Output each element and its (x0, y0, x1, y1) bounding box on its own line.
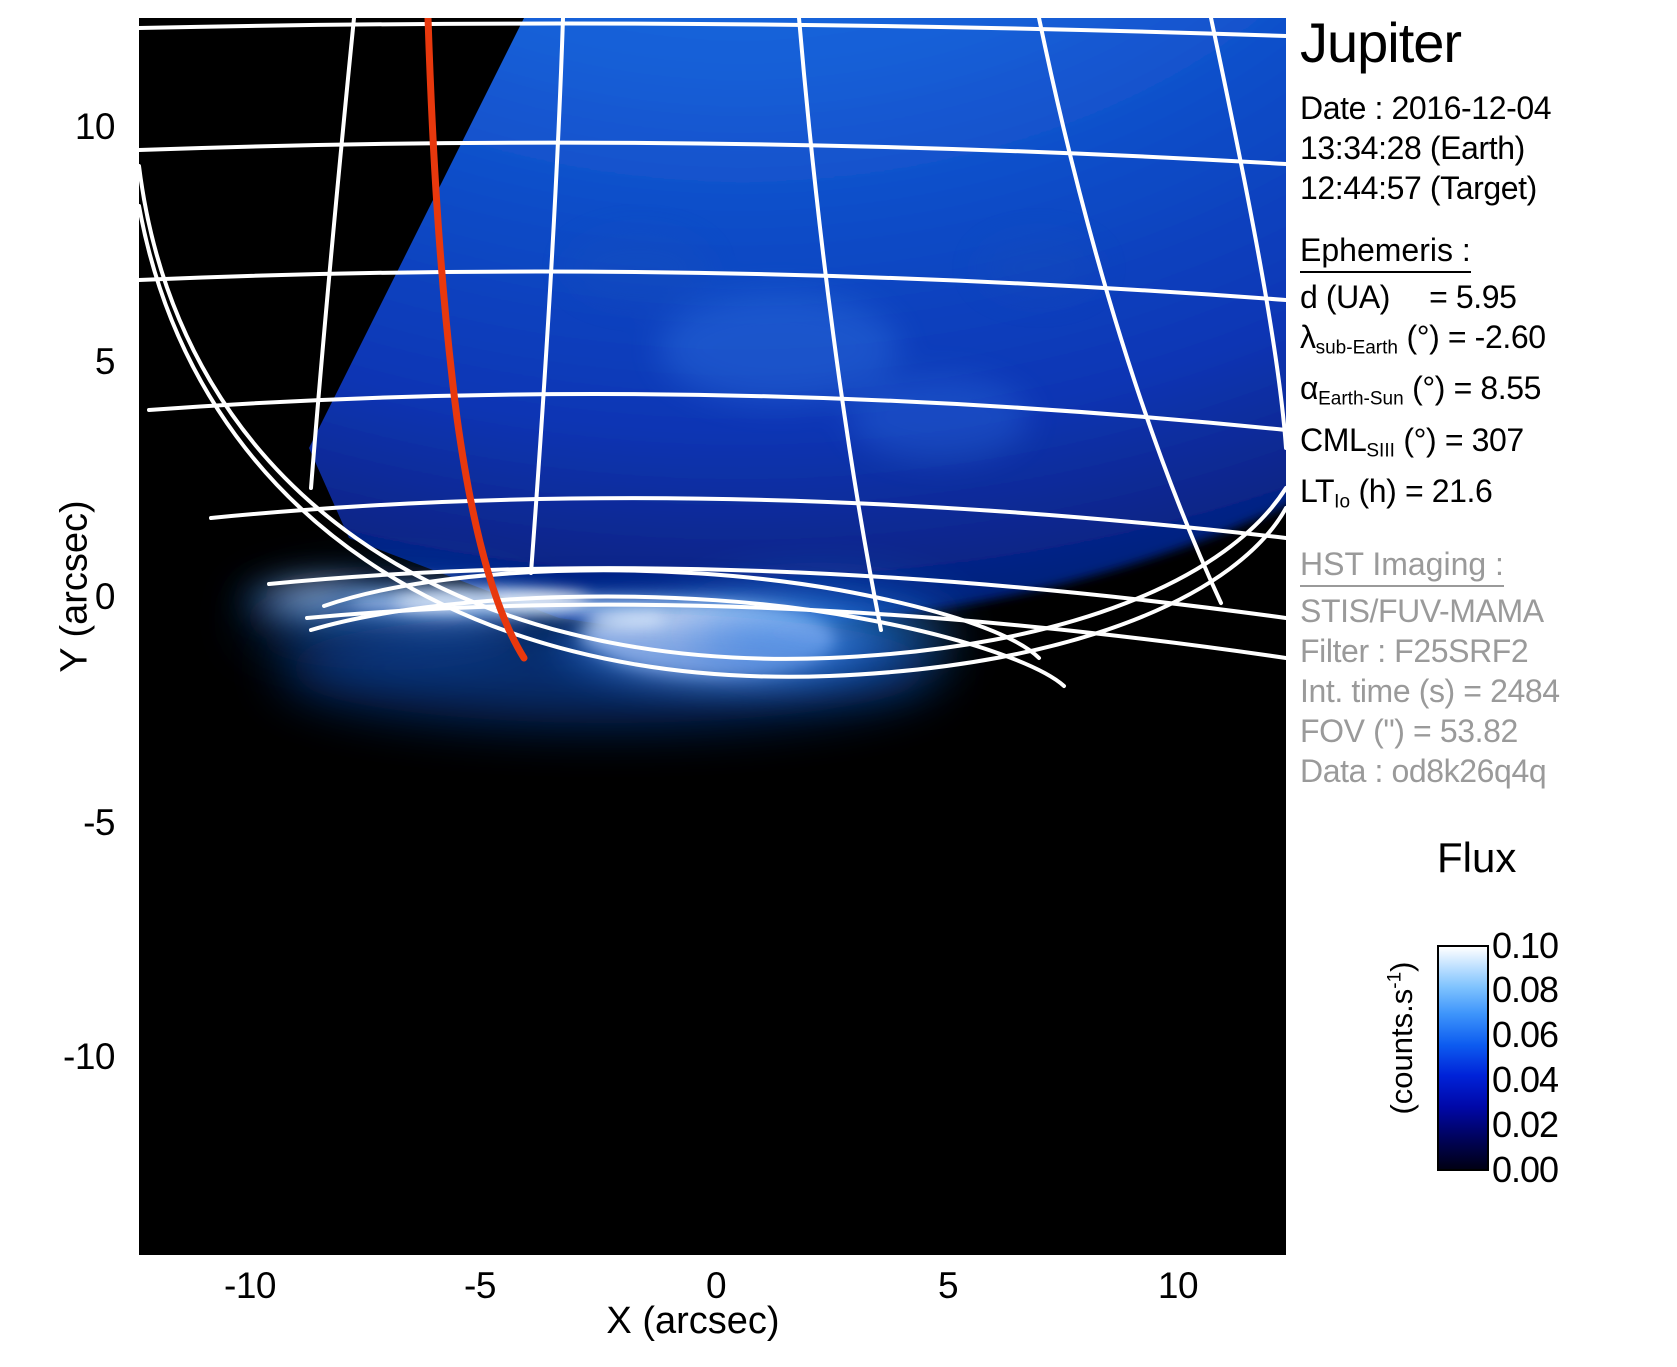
lambda-subscript: sub-Earth (1316, 337, 1398, 358)
ephemeris-heading: Ephemeris : (1300, 230, 1471, 273)
ephemeris-io-local-time: LTIo (h) = 21.6 (1300, 471, 1677, 522)
lambda-unit: (°) (1406, 319, 1439, 355)
colorbar-unit-main: (counts.s (1384, 989, 1419, 1115)
ephemeris-phase-angle: αEarth-Sun (°) = 8.55 (1300, 368, 1677, 419)
y-tick-neg5: -5 (0, 804, 115, 841)
hst-imaging-heading: HST Imaging : (1300, 544, 1504, 587)
lt-subscript: Io (1334, 491, 1350, 512)
x-tick-neg10: -10 (190, 1267, 310, 1304)
alpha-unit: (°) (1412, 370, 1445, 406)
cml-unit: (°) (1403, 422, 1436, 458)
colorbar-unit-exponent: -1 (1385, 972, 1406, 989)
y-tick-neg10: -10 (0, 1038, 115, 1075)
ephemeris-distance-value: = 5.95 (1429, 279, 1516, 315)
cml-label: CML (1300, 422, 1366, 458)
x-tick-0: 0 (656, 1267, 776, 1304)
target-title: Jupiter (1300, 14, 1677, 72)
lt-label: LT (1300, 473, 1334, 509)
colorbar-unit-close: ) (1384, 962, 1419, 972)
lambda-symbol: λ (1300, 319, 1316, 355)
y-axis-title: Y (arcsec) (54, 457, 97, 717)
x-tick-10: 10 (1118, 1267, 1238, 1304)
observation-info-panel: Jupiter Date : 2016-12-04 13:34:28 (Eart… (1300, 14, 1677, 791)
cml-value: = 307 (1445, 422, 1524, 458)
alpha-value: = 8.55 (1454, 370, 1541, 406)
hst-filter: Filter : F25SRF2 (1300, 631, 1677, 671)
alpha-subscript: Earth-Sun (1318, 389, 1404, 410)
hst-data-id: Data : od8k26q4q (1300, 751, 1677, 791)
colorbar-tick-008: 0.08 (1492, 972, 1558, 1008)
colorbar-tick-000: 0.00 (1492, 1152, 1558, 1188)
ephemeris-cml: CMLSIII (°) = 307 (1300, 420, 1677, 471)
ephemeris-sub-earth-latitude: λsub-Earth (°) = -2.60 (1300, 317, 1677, 368)
colorbar-title: Flux (1437, 836, 1497, 880)
observation-time-target: 12:44:57 (Target) (1300, 168, 1677, 208)
colorbar-tick-004: 0.04 (1492, 1062, 1558, 1098)
cml-subscript: SIII (1366, 440, 1395, 461)
observation-time-earth: 13:34:28 (Earth) (1300, 128, 1677, 168)
observation-date-block: Date : 2016-12-04 13:34:28 (Earth) 12:44… (1300, 88, 1677, 208)
x-axis-title: X (arcsec) (493, 1300, 893, 1343)
flux-colorbar (1437, 945, 1489, 1171)
jupiter-aurora-image (139, 18, 1286, 1255)
lambda-value: = -2.60 (1448, 319, 1546, 355)
alpha-symbol: α (1300, 370, 1318, 406)
ephemeris-distance: d (UA) = 5.95 (1300, 277, 1677, 317)
colorbar-axis-title: (counts.s-1) (1384, 928, 1420, 1148)
observation-date: Date : 2016-12-04 (1300, 88, 1677, 128)
hst-fov: FOV (") = 53.82 (1300, 711, 1677, 751)
x-tick-neg5: -5 (420, 1267, 540, 1304)
lt-unit: (h) (1359, 473, 1397, 509)
y-tick-5: 5 (0, 343, 115, 380)
lt-value: = 21.6 (1405, 473, 1492, 509)
ephemeris-distance-label: d (UA) (1300, 279, 1390, 315)
hst-int-time: Int. time (s) = 2484 (1300, 671, 1677, 711)
y-tick-10: 10 (0, 108, 115, 145)
colorbar-tick-002: 0.02 (1492, 1107, 1558, 1143)
hst-instrument: STIS/FUV-MAMA (1300, 591, 1677, 631)
colorbar-tick-006: 0.06 (1492, 1017, 1558, 1053)
x-tick-5: 5 (888, 1267, 1008, 1304)
aurora-image-panel (139, 18, 1286, 1255)
colorbar-tick-010: 0.10 (1492, 928, 1558, 964)
